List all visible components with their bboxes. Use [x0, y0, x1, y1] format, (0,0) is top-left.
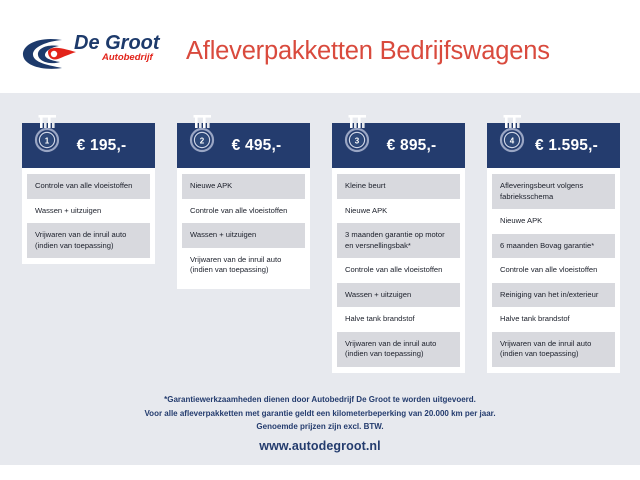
page-title: Afleverpakketten Bedrijfswagens [186, 37, 550, 66]
svg-text:De Groot: De Groot [74, 32, 161, 54]
package-feature-list-4: Afleveringsbeurt volgensfabrieksschema N… [487, 168, 620, 373]
package-price-header-3: 3 € 895,- [332, 123, 465, 168]
list-item: Nieuwe APK [492, 209, 615, 234]
medal-rank-1: 1 [45, 136, 50, 145]
package-price-header-2: 2 € 495,- [177, 123, 310, 168]
list-item: Wassen + uitzuigen [337, 283, 460, 308]
svg-text:Autobedrijf: Autobedrijf [101, 52, 153, 63]
footnote-line-3: Genoemde prijzen zijn excl. BTW. [0, 420, 640, 434]
medal-icon: 3 [342, 115, 372, 157]
list-item: Vrijwaren van de inruil auto(indien van … [492, 332, 615, 367]
medal-rank-3: 3 [355, 136, 360, 145]
package-card-3[interactable]: 3 € 895,- Kleine beurt Nieuwe APK 3 maan… [332, 123, 465, 373]
list-item: Kleine beurt [337, 174, 460, 199]
swoosh-logo-icon: De Groot Autobedrijf [18, 26, 170, 74]
list-item: Vrijwaren van de inruil auto(indien van … [27, 223, 150, 258]
list-item: Controle van alle vloeistoffen [182, 199, 305, 224]
list-item: Wassen + uitzuigen [182, 223, 305, 248]
bottom-white-band [0, 465, 640, 480]
list-item: 3 maanden garantie op motoren versnellin… [337, 223, 460, 258]
company-logo[interactable]: De Groot Autobedrijf [18, 26, 170, 74]
content-area: 1 € 195,- Controle van alle vloeistoffen… [0, 93, 640, 465]
footnote-line-2: Voor alle afleverpakketten met garantie … [0, 407, 640, 421]
promo-page: De Groot Autobedrijf Afleverpakketten Be… [0, 0, 640, 480]
list-item: Controle van alle vloeistoffen [337, 258, 460, 283]
list-item: 6 maanden Bovag garantie* [492, 234, 615, 259]
list-item: Halve tank brandstof [337, 307, 460, 332]
list-item: Wassen + uitzuigen [27, 199, 150, 224]
page-header: De Groot Autobedrijf Afleverpakketten Be… [0, 0, 640, 93]
list-item: Halve tank brandstof [492, 307, 615, 332]
package-card-1[interactable]: 1 € 195,- Controle van alle vloeistoffen… [22, 123, 155, 264]
package-feature-list-3: Kleine beurt Nieuwe APK 3 maanden garant… [332, 168, 465, 373]
list-item: Nieuwe APK [337, 199, 460, 224]
package-feature-list-1: Controle van alle vloeistoffen Wassen + … [22, 168, 155, 264]
list-item: Controle van alle vloeistoffen [492, 258, 615, 283]
medal-rank-4: 4 [510, 136, 515, 145]
medal-icon: 1 [32, 115, 62, 157]
package-feature-list-2: Nieuwe APK Controle van alle vloeistoffe… [177, 168, 310, 289]
medal-rank-2: 2 [200, 136, 205, 145]
list-item: Vrijwaren van de inruil auto(indien van … [182, 248, 305, 283]
package-columns: 1 € 195,- Controle van alle vloeistoffen… [0, 93, 640, 383]
medal-icon: 4 [497, 115, 527, 157]
medal-icon: 2 [187, 115, 217, 157]
list-item: Afleveringsbeurt volgensfabrieksschema [492, 174, 615, 209]
footnote-block: *Garantiewerkzaamheden dienen door Autob… [0, 393, 640, 434]
package-price-header-4: 4 € 1.595,- [487, 123, 620, 168]
package-price-header-1: 1 € 195,- [22, 123, 155, 168]
list-item: Reiniging van het in/exterieur [492, 283, 615, 308]
package-card-2[interactable]: 2 € 495,- Nieuwe APK Controle van alle v… [177, 123, 310, 289]
list-item: Nieuwe APK [182, 174, 305, 199]
list-item: Vrijwaren van de inruil auto(indien van … [337, 332, 460, 367]
package-card-4[interactable]: 4 € 1.595,- Afleveringsbeurt volgensfabr… [487, 123, 620, 373]
list-item: Controle van alle vloeistoffen [27, 174, 150, 199]
footnote-line-1: *Garantiewerkzaamheden dienen door Autob… [0, 393, 640, 407]
website-link[interactable]: www.autodegroot.nl [0, 439, 640, 453]
